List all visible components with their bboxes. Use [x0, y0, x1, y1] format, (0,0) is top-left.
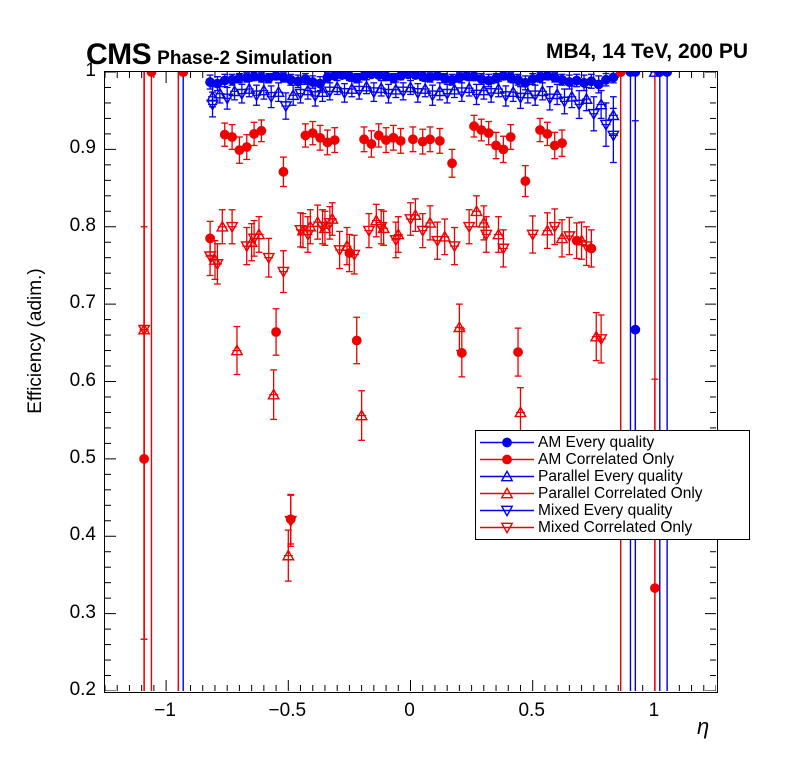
legend-label: AM Correlated Only [538, 451, 674, 468]
legend-entry[interactable]: Mixed Correlated Only [476, 519, 749, 536]
plot-frame [104, 71, 718, 693]
y-tick-label: 0.2 [36, 679, 96, 701]
legend-entry[interactable]: Parallel Correlated Only [476, 485, 749, 502]
simulation-label: Phase-2 Simulation [157, 48, 332, 69]
x-tick-label: −0.5 [252, 700, 322, 722]
y-tick-label: 0.4 [36, 524, 96, 546]
run-condition-label: MB4, 14 TeV, 200 PU [546, 40, 748, 64]
legend-marker-triangle-down-open-icon [476, 502, 538, 519]
y-axis-title: Efficiency (adim.) [25, 231, 47, 451]
legend-entry[interactable]: AM Every quality [476, 434, 749, 451]
data-layer [105, 72, 716, 691]
plot-canvas: CMSPhase-2 Simulation MB4, 14 TeV, 200 P… [0, 0, 796, 772]
x-axis-title: η [697, 714, 709, 740]
y-tick-label: 0.7 [36, 292, 96, 314]
legend-entry[interactable]: Mixed Every quality [476, 502, 749, 519]
y-tick-label: 0.8 [36, 215, 96, 237]
y-tick-label: 0.6 [36, 370, 96, 392]
legend-marker-circle-filled-icon [476, 434, 538, 451]
y-tick-label: 0.3 [36, 602, 96, 624]
y-tick-label: 0.9 [36, 137, 96, 159]
legend-marker-triangle-up-open-icon [476, 468, 538, 485]
x-tick-label: 0 [375, 700, 445, 722]
cms-header: CMSPhase-2 Simulation [86, 38, 332, 72]
legend-label: Mixed Every quality [538, 502, 672, 519]
legend-marker-triangle-down-open-icon [476, 519, 538, 536]
legend-marker-circle-filled-icon [476, 451, 538, 468]
x-tick-label: 1 [619, 700, 689, 722]
x-tick-label: −1 [130, 700, 200, 722]
legend-box: AM Every qualityAM Correlated OnlyParall… [475, 430, 750, 540]
legend-label: AM Every quality [538, 434, 654, 451]
y-tick-label: 1 [36, 60, 96, 82]
legend-label: Mixed Correlated Only [538, 519, 692, 536]
x-tick-label: 0.5 [497, 700, 567, 722]
legend-entry[interactable]: Parallel Every quality [476, 468, 749, 485]
legend-label: Parallel Correlated Only [538, 485, 703, 502]
y-tick-label: 0.5 [36, 447, 96, 469]
legend-label: Parallel Every quality [538, 468, 683, 485]
legend-entry[interactable]: AM Correlated Only [476, 451, 749, 468]
legend-marker-triangle-up-open-icon [476, 485, 538, 502]
